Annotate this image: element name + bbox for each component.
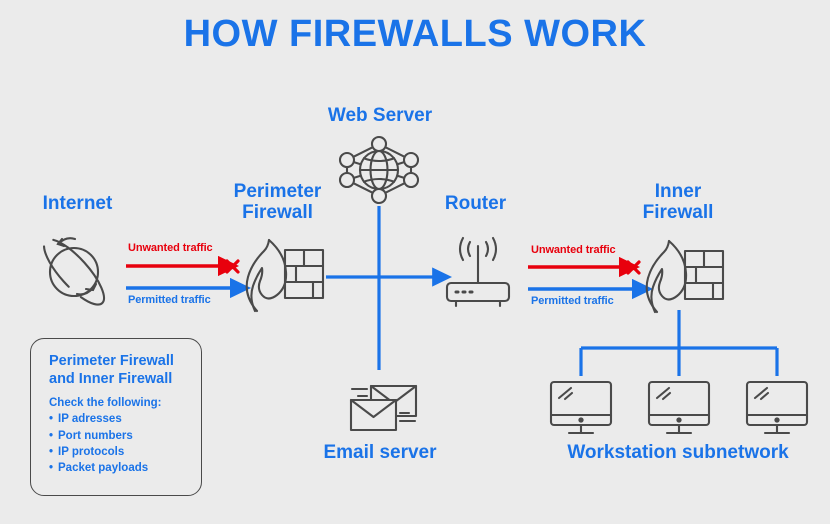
firewall-flame-brick-icon-inner <box>647 241 723 312</box>
traffic-label-permitted-left: Permitted traffic <box>128 294 211 306</box>
page-title: HOW FIREWALLS WORK <box>0 14 830 56</box>
traffic-label-unwanted-left: Unwanted traffic <box>128 242 213 254</box>
node-label-email-server: Email server <box>300 442 460 463</box>
monitor-icon-2 <box>649 382 709 433</box>
monitor-icon-3 <box>747 382 807 433</box>
router-icon <box>447 238 509 306</box>
firewall-flame-brick-icon-perimeter <box>247 240 323 311</box>
node-label-inner-firewall: Inner Firewall <box>608 181 748 224</box>
globe-orbit-icon <box>35 231 112 312</box>
blocked-x-icon-right <box>628 262 639 273</box>
diagram-canvas: HOW FIREWALLS WORK Internet Perimeter Fi… <box>0 0 830 524</box>
info-box: Perimeter Firewall and Inner Firewall Ch… <box>30 338 202 496</box>
envelopes-icon <box>351 386 416 430</box>
node-label-perimeter-firewall: Perimeter Firewall <box>205 181 350 224</box>
node-label-web-server: Web Server <box>300 105 460 126</box>
info-box-item: Port numbers <box>49 428 187 444</box>
info-box-item: IP adresses <box>49 411 187 427</box>
info-box-item: IP protocols <box>49 444 187 460</box>
info-box-subtitle: Check the following: <box>49 397 187 409</box>
node-label-workstation-subnetwork: Workstation subnetwork <box>528 442 828 463</box>
node-label-internet: Internet <box>10 193 145 214</box>
blocked-x-icon-left <box>227 261 238 272</box>
traffic-label-unwanted-right: Unwanted traffic <box>531 244 616 256</box>
globe-network-icon <box>340 137 418 203</box>
node-label-router: Router <box>408 193 543 214</box>
info-box-item: Packet payloads <box>49 460 187 476</box>
monitor-icon-1 <box>551 382 611 433</box>
info-box-title: Perimeter Firewall and Inner Firewall <box>49 353 187 388</box>
traffic-label-permitted-right: Permitted traffic <box>531 295 614 307</box>
